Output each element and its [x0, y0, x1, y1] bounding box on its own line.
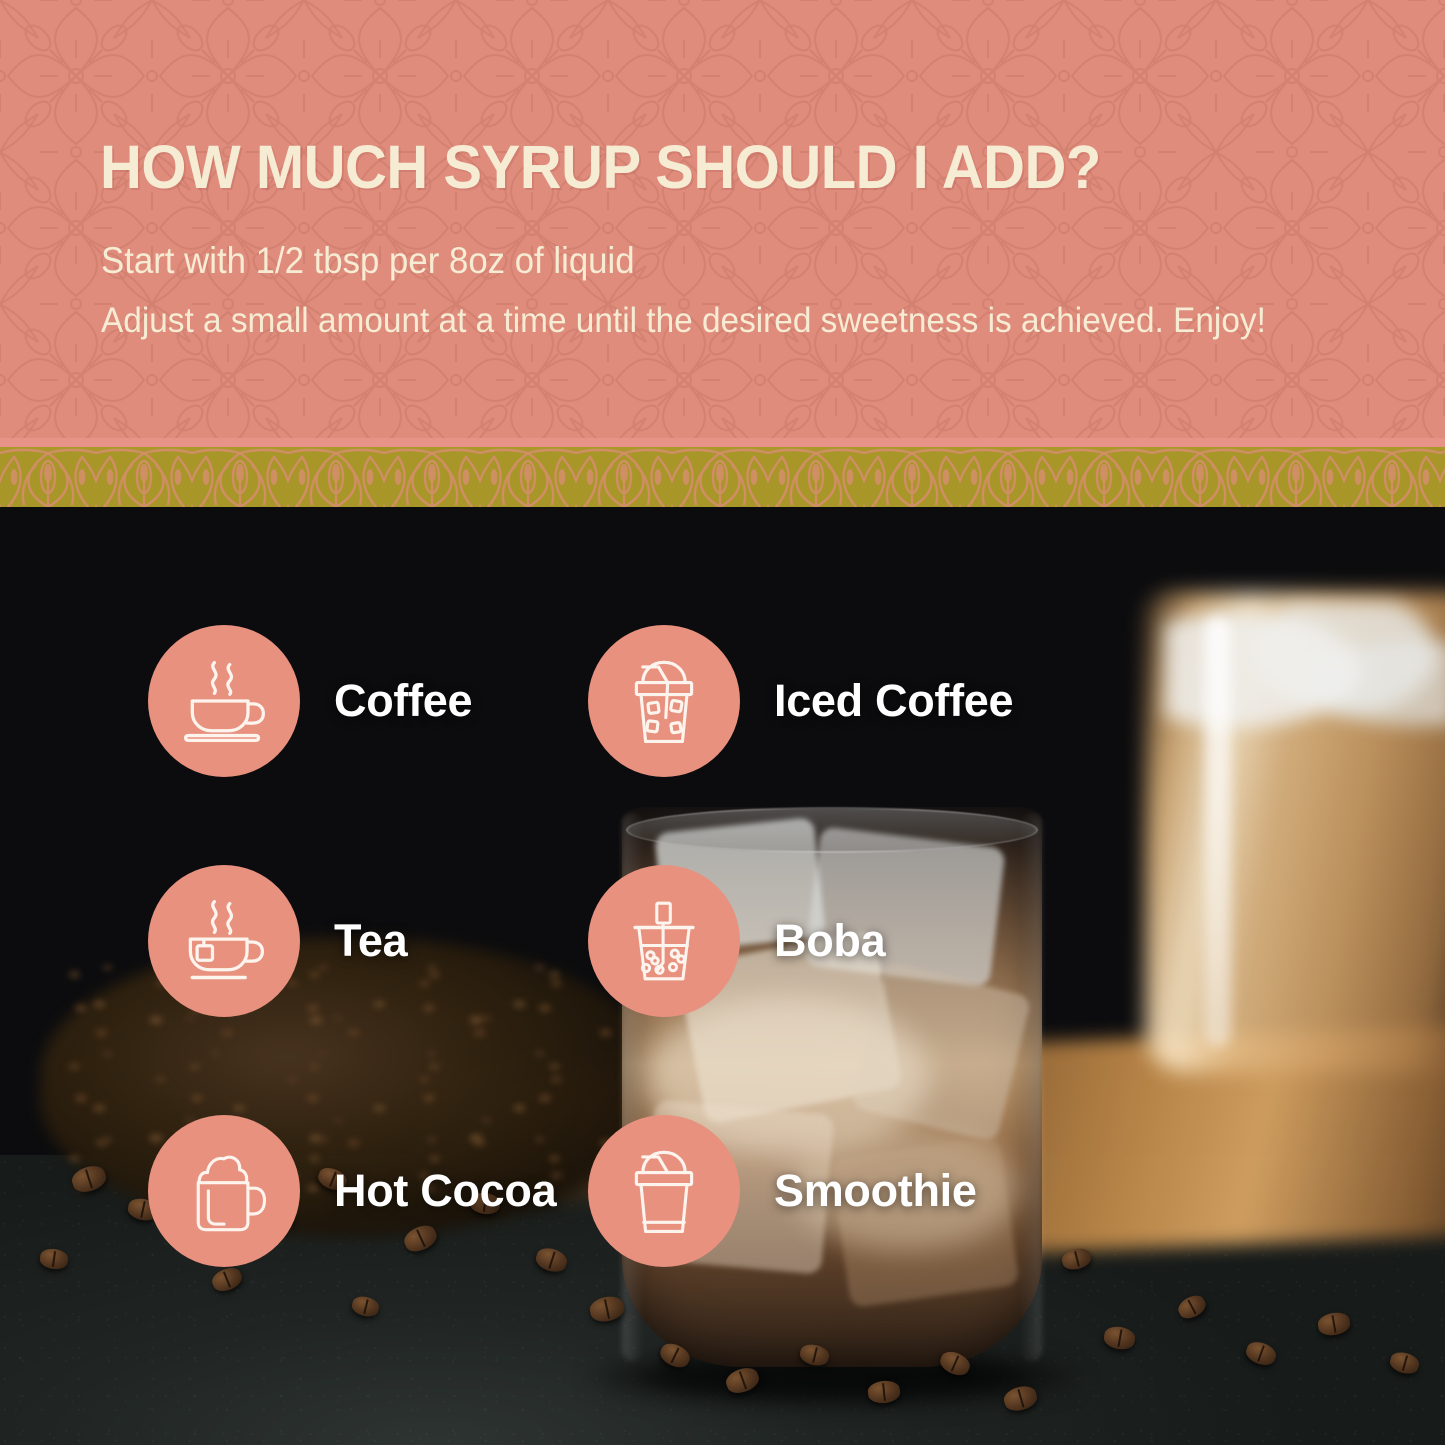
iced-coffee-cup-icon [588, 625, 740, 777]
drink-label: Hot Cocoa [334, 1165, 556, 1217]
smoothie-cup-icon [588, 1115, 740, 1267]
subtitle-line-1: Start with 1/2 tbsp per 8oz of liquid [101, 240, 635, 282]
cocoa-mug-whip-icon [148, 1115, 300, 1267]
tea-cup-bag-icon [148, 865, 300, 1017]
drink-label: Tea [334, 915, 407, 967]
drink-label: Boba [774, 915, 885, 967]
drink-item-boba[interactable]: Boba [588, 865, 885, 1017]
drink-icon-grid: Coffee Iced Coffee Tea [0, 507, 1445, 1445]
boba-cup-pearls-icon [588, 865, 740, 1017]
drink-label: Iced Coffee [774, 675, 1013, 727]
ornamental-divider [0, 447, 1445, 507]
drink-item-iced-coffee[interactable]: Iced Coffee [588, 625, 1013, 777]
drink-item-coffee[interactable]: Coffee [148, 625, 472, 777]
page-title: HOW MUCH SYRUP SHOULD I ADD? [100, 132, 1101, 202]
drink-label: Coffee [334, 675, 472, 727]
header-banner: HOW MUCH SYRUP SHOULD I ADD? Start with … [0, 0, 1445, 447]
coffee-cup-saucer-icon [148, 625, 300, 777]
header-text-block: HOW MUCH SYRUP SHOULD I ADD? Start with … [0, 0, 1445, 447]
drink-item-hot-cocoa[interactable]: Hot Cocoa [148, 1115, 556, 1267]
drink-item-tea[interactable]: Tea [148, 865, 407, 1017]
lotus-ornament-pattern [0, 447, 1445, 507]
subtitle-line-2: Adjust a small amount at a time until th… [101, 300, 1266, 341]
drink-label: Smoothie [774, 1165, 977, 1217]
drink-item-smoothie[interactable]: Smoothie [588, 1115, 977, 1267]
syrup-usage-infographic: HOW MUCH SYRUP SHOULD I ADD? Start with … [0, 0, 1445, 1445]
photo-panel: Coffee Iced Coffee Tea [0, 507, 1445, 1445]
